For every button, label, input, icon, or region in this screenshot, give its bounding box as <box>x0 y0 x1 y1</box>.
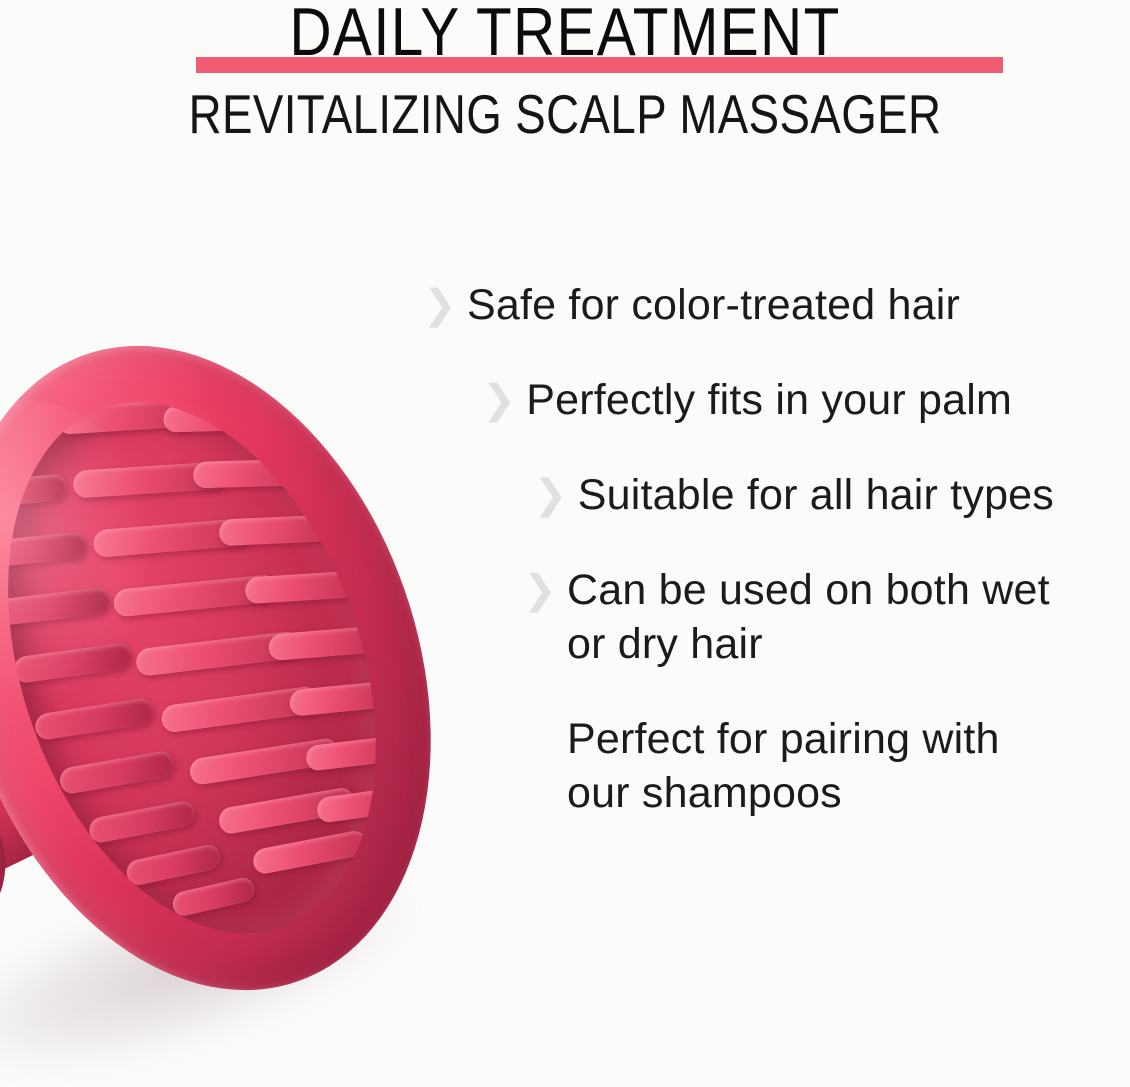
benefit-text: Safe for color-treated hair <box>467 278 960 332</box>
bristle <box>193 459 311 489</box>
bristle <box>0 587 111 627</box>
list-item: ❯ Suitable for all hair types <box>340 468 1130 522</box>
list-item: ❯ Safe for color-treated hair <box>340 278 1130 332</box>
list-item: ❯ Perfect for pairing with our shampoos <box>340 712 1130 820</box>
header: DAILY TREATMENT REVITALIZING SCALP MASSA… <box>0 0 1130 150</box>
bristle <box>0 531 87 568</box>
chevron-right-icon: ❯ <box>523 563 553 617</box>
bristle <box>219 514 335 546</box>
benefit-text: Perfect for pairing with our shampoos <box>567 712 1122 820</box>
bristle <box>59 750 175 796</box>
bristle <box>125 843 222 888</box>
bristle <box>13 642 133 684</box>
bristle <box>0 473 67 510</box>
page-subtitle: REVITALIZING SCALP MASSAGER <box>96 84 1034 144</box>
bristle <box>171 876 256 918</box>
benefit-list: ❯ Safe for color-treated hair ❯ Perfectl… <box>340 278 1130 820</box>
product-infographic: DAILY TREATMENT REVITALIZING SCALP MASSA… <box>0 0 1130 1087</box>
bristle <box>88 799 196 844</box>
bristle <box>252 829 368 876</box>
title-wrap: DAILY TREATMENT <box>0 0 1130 78</box>
chevron-right-icon: ❯ <box>423 278 453 332</box>
list-item: ❯ Perfectly fits in your palm <box>340 373 1130 427</box>
page-title: DAILY TREATMENT <box>79 0 1051 70</box>
bristle <box>163 403 287 433</box>
bristle <box>34 697 154 741</box>
list-item: ❯ Can be used on both wet or dry hair <box>340 563 1130 671</box>
benefit-text: Can be used on both wet or dry hair <box>567 563 1122 671</box>
chevron-right-icon: ❯ <box>482 373 512 427</box>
chevron-right-icon: ❯ <box>534 468 564 522</box>
benefit-text: Suitable for all hair types <box>578 468 1054 522</box>
benefit-text: Perfectly fits in your palm <box>526 373 1012 427</box>
